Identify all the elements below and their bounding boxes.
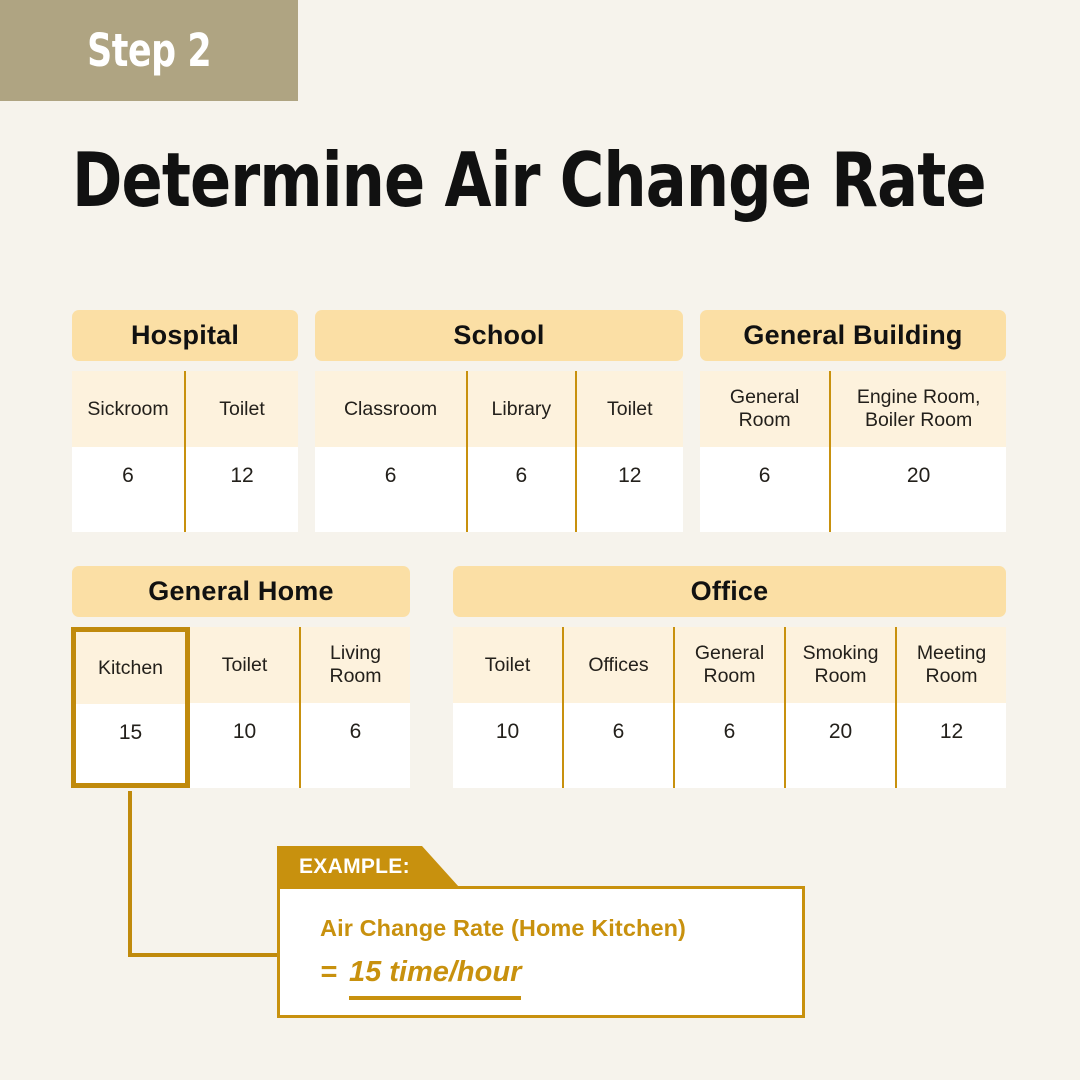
column-value: 10 bbox=[453, 703, 562, 788]
table-school: School Classroom 6 Library 6 Toilet 12 bbox=[315, 310, 683, 532]
table-hospital: Hospital Sickroom 6 Toilet 12 bbox=[72, 310, 298, 532]
table-column[interactable]: Smoking Room 20 bbox=[784, 627, 895, 788]
column-value: 6 bbox=[72, 447, 184, 532]
table-column[interactable]: Offices 6 bbox=[562, 627, 673, 788]
table-title: General Building bbox=[743, 320, 962, 351]
column-value: 6 bbox=[700, 447, 829, 532]
column-label: Offices bbox=[564, 627, 673, 703]
column-value: 12 bbox=[186, 447, 298, 532]
table-column[interactable]: Sickroom 6 bbox=[72, 371, 184, 532]
column-value: 12 bbox=[577, 447, 683, 532]
column-label: Engine Room, Boiler Room bbox=[831, 371, 1006, 447]
table-title: General Home bbox=[148, 576, 333, 607]
page-title: Determine Air Change Rate bbox=[72, 140, 936, 220]
table-header-hospital: Hospital bbox=[72, 310, 298, 361]
table-general-home: General Home Kitchen 15 Toilet 10 Living… bbox=[72, 566, 410, 788]
column-label: Living Room bbox=[301, 627, 410, 703]
column-label: Kitchen bbox=[76, 632, 185, 704]
infographic-canvas: Step 2 Determine Air Change Rate Hospita… bbox=[0, 0, 1080, 1080]
example-description: Air Change Rate (Home Kitchen) bbox=[320, 915, 802, 942]
table-column-kitchen-highlighted[interactable]: Kitchen 15 bbox=[71, 627, 190, 788]
column-value: 15 bbox=[76, 704, 185, 783]
column-value: 20 bbox=[786, 703, 895, 788]
table-column[interactable]: General Room 6 bbox=[673, 627, 784, 788]
column-value: 6 bbox=[468, 447, 574, 532]
step-badge-label: Step 2 bbox=[87, 24, 211, 77]
table-header-office: Office bbox=[453, 566, 1006, 617]
column-label: Smoking Room bbox=[786, 627, 895, 703]
table-general-building: General Building General Room 6 Engine R… bbox=[700, 310, 1006, 532]
column-value: 6 bbox=[675, 703, 784, 788]
column-value: 6 bbox=[315, 447, 466, 532]
column-label: Toilet bbox=[186, 371, 298, 447]
table-column[interactable]: General Room 6 bbox=[700, 371, 829, 532]
table-column[interactable]: Living Room 6 bbox=[299, 627, 410, 788]
table-header-general-home: General Home bbox=[72, 566, 410, 617]
connector-horizontal-line bbox=[128, 953, 283, 957]
table-header-school: School bbox=[315, 310, 683, 361]
column-label: Toilet bbox=[577, 371, 683, 447]
example-box: Air Change Rate (Home Kitchen) = 15 time… bbox=[277, 886, 805, 1018]
table-body: Sickroom 6 Toilet 12 bbox=[72, 371, 298, 532]
table-column[interactable]: Engine Room, Boiler Room 20 bbox=[829, 371, 1006, 532]
table-column[interactable]: Toilet 12 bbox=[184, 371, 298, 532]
column-value: 6 bbox=[301, 703, 410, 788]
example-tab-label: EXAMPLE: bbox=[299, 855, 410, 879]
column-label: Meeting Room bbox=[897, 627, 1006, 703]
example-tab: EXAMPLE: bbox=[277, 846, 459, 887]
table-office: Office Toilet 10 Offices 6 General Room … bbox=[453, 566, 1006, 788]
table-header-general-building: General Building bbox=[700, 310, 1006, 361]
column-label: Classroom bbox=[315, 371, 466, 447]
column-label: Sickroom bbox=[72, 371, 184, 447]
column-value: 12 bbox=[897, 703, 1006, 788]
table-body: Kitchen 15 Toilet 10 Living Room 6 bbox=[72, 627, 410, 788]
step-badge: Step 2 bbox=[0, 0, 298, 101]
table-column[interactable]: Meeting Room 12 bbox=[895, 627, 1006, 788]
table-title: School bbox=[453, 320, 544, 351]
example-result: = 15 time/hour bbox=[320, 956, 802, 1000]
example-value: 15 time/hour bbox=[349, 956, 521, 1000]
column-value: 10 bbox=[190, 703, 299, 788]
equals-sign: = bbox=[320, 956, 337, 989]
table-body: General Room 6 Engine Room, Boiler Room … bbox=[700, 371, 1006, 532]
column-label: Toilet bbox=[190, 627, 299, 703]
column-label: Toilet bbox=[453, 627, 562, 703]
table-title: Office bbox=[691, 576, 769, 607]
connector-vertical-line bbox=[128, 791, 132, 957]
column-label: Library bbox=[468, 371, 574, 447]
table-column[interactable]: Library 6 bbox=[466, 371, 574, 532]
table-column[interactable]: Toilet 10 bbox=[453, 627, 562, 788]
column-label: General Room bbox=[675, 627, 784, 703]
table-column[interactable]: Toilet 12 bbox=[575, 371, 683, 532]
table-title: Hospital bbox=[131, 320, 239, 351]
column-label: General Room bbox=[700, 371, 829, 447]
column-value: 6 bbox=[564, 703, 673, 788]
table-body: Classroom 6 Library 6 Toilet 12 bbox=[315, 371, 683, 532]
table-column[interactable]: Classroom 6 bbox=[315, 371, 466, 532]
table-column[interactable]: Toilet 10 bbox=[190, 627, 299, 788]
column-value: 20 bbox=[831, 447, 1006, 532]
table-body: Toilet 10 Offices 6 General Room 6 Smoki… bbox=[453, 627, 1006, 788]
